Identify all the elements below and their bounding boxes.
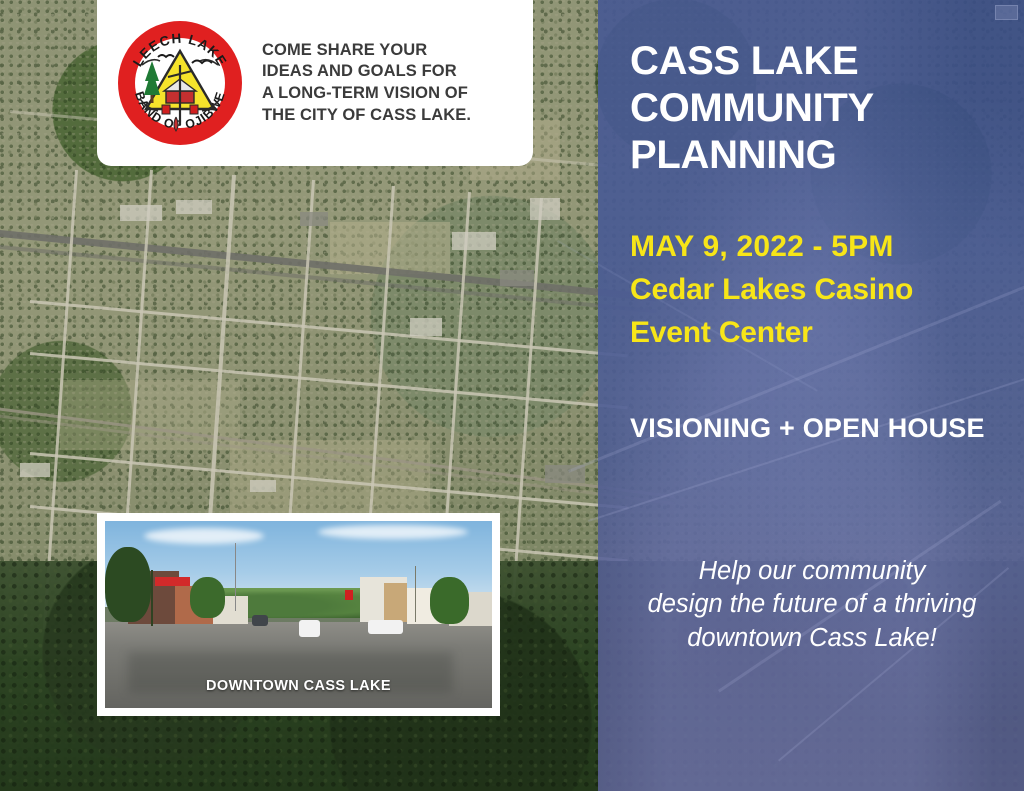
map-building — [452, 232, 496, 250]
photo-car — [252, 615, 267, 626]
event-venue: Cedar Lakes Casino — [630, 269, 913, 312]
tagline-line-2: design the future of a thriving — [612, 588, 1012, 621]
event-datetime-location: MAY 9, 2022 - 5PM Cedar Lakes Casino Eve… — [630, 226, 913, 355]
title-line-1: CASS LAKE — [630, 38, 874, 85]
photo-car — [368, 620, 403, 634]
map-building — [120, 205, 162, 221]
poster-tagline: Help our community design the future of … — [612, 555, 1012, 655]
downtown-photo-inset: DOWNTOWN CASS LAKE — [97, 513, 500, 716]
header-message-line-3: A LONG-TERM VISION OF — [262, 83, 471, 105]
photo-cloud — [318, 525, 468, 539]
photo-pole — [151, 570, 152, 626]
leech-lake-seal-icon: LEECH LAKE BAND OF OJIBWE — [118, 21, 242, 145]
map-building — [530, 198, 560, 220]
photo-caption: DOWNTOWN CASS LAKE — [105, 678, 492, 694]
top-right-artifact — [995, 5, 1018, 20]
downtown-photo-image: DOWNTOWN CASS LAKE — [105, 521, 492, 708]
photo-pole — [415, 566, 416, 622]
title-line-3: PLANNING — [630, 132, 874, 179]
photo-antenna — [235, 543, 236, 610]
header-message-line-4: THE CITY OF CASS LAKE. — [262, 105, 471, 127]
poster-canvas: LEECH LAKE BAND OF OJIBWE — [0, 0, 1024, 791]
photo-tree — [190, 577, 225, 618]
photo-building — [384, 583, 407, 622]
map-building — [250, 480, 276, 492]
event-venue-room: Event Center — [630, 312, 913, 355]
map-building — [300, 212, 328, 226]
tagline-line-3: downtown Cass Lake! — [612, 622, 1012, 655]
photo-awning — [155, 577, 190, 586]
header-message-line-1: COME SHARE YOUR — [262, 40, 471, 62]
map-building — [500, 270, 534, 286]
header-card: LEECH LAKE BAND OF OJIBWE — [97, 0, 533, 166]
map-building — [410, 318, 442, 336]
map-building — [176, 200, 212, 214]
poster-title: CASS LAKE COMMUNITY PLANNING — [630, 38, 874, 178]
photo-tree — [105, 547, 151, 622]
photo-car — [299, 620, 320, 637]
tagline-line-1: Help our community — [612, 555, 1012, 588]
event-type-label: VISIONING + OPEN HOUSE — [630, 413, 985, 444]
map-building — [20, 463, 50, 477]
header-message: COME SHARE YOUR IDEAS AND GOALS FOR A LO… — [262, 40, 471, 126]
photo-tree — [430, 577, 469, 624]
header-message-line-2: IDEAS AND GOALS FOR — [262, 61, 471, 83]
title-line-2: COMMUNITY — [630, 85, 874, 132]
event-date-time: MAY 9, 2022 - 5PM — [630, 226, 913, 269]
photo-sign — [345, 590, 353, 599]
